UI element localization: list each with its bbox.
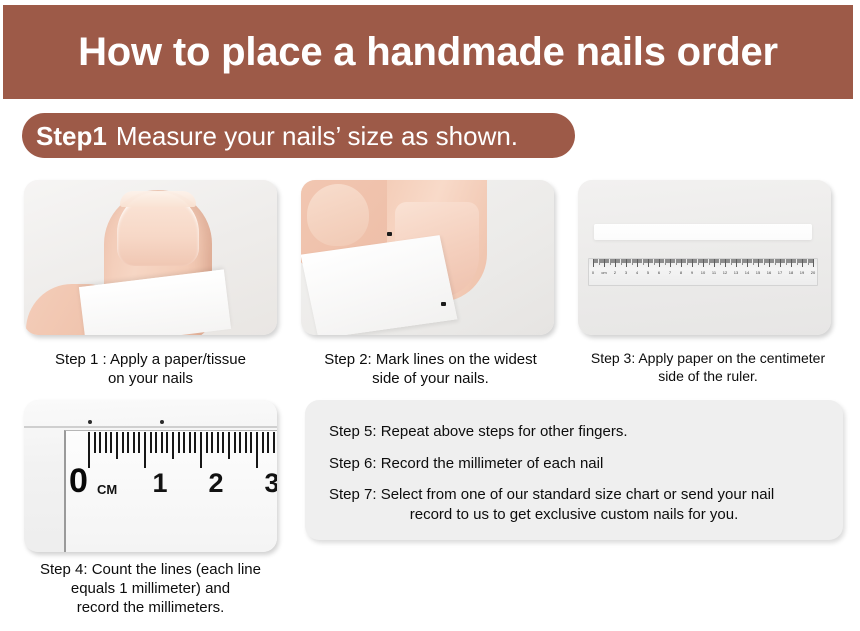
caption-step-2-line-1: Step 2: Mark lines on the widest <box>292 350 569 369</box>
steps-5-7-panel: Step 5: Repeat above steps for other fin… <box>305 400 843 540</box>
caption-step-2: Step 2: Mark lines on the widest side of… <box>292 350 569 388</box>
pen-mark-lower <box>441 302 446 306</box>
ruler-closeup-photo: 0 CM 1 2 3 <box>24 400 277 552</box>
caption-step-2-line-2: side of your nails. <box>292 369 569 388</box>
caption-step-1-line-1: Step 1 : Apply a paper/tissue <box>12 350 289 369</box>
note-step-7-line-1: Step 7: Select from one of our standard … <box>329 485 819 505</box>
caption-step-4-line-1: Step 4: Count the lines (each line <box>12 560 289 579</box>
note-step-5: Step 5: Repeat above steps for other fin… <box>329 422 819 442</box>
caption-step-3-line-2: side of the ruler. <box>568 368 848 386</box>
step1-instruction: Measure your nails’ size as shown. <box>116 123 518 149</box>
ruler-unit-label: CM <box>97 483 117 496</box>
finger-pinching-marked-paper-photo <box>301 180 554 335</box>
paper-strip-shape <box>594 224 812 240</box>
ruler-tick-marks <box>593 259 813 270</box>
step1-label: Step1 <box>36 123 107 149</box>
photo-card-apply-paper <box>24 180 277 335</box>
finger-with-paper-strip-photo <box>24 180 277 335</box>
nail-tip-shape <box>120 191 196 207</box>
caption-step-1: Step 1 : Apply a paper/tissue on your na… <box>12 350 289 388</box>
note-step-7-line-2: record to us to get exclusive custom nai… <box>410 506 738 523</box>
ruler-label-3: 3 <box>264 468 277 499</box>
page-title: How to place a handmade nails order <box>78 32 778 72</box>
photo-card-apply-to-ruler: 0cm234567891011121314151617181920 <box>578 180 831 335</box>
photo-card-mark-lines <box>301 180 554 335</box>
photo-card-count-lines: 0 CM 1 2 3 <box>24 400 277 552</box>
caption-step-3-line-1: Step 3: Apply paper on the centimeter <box>568 350 848 368</box>
ruler-label-2: 2 <box>208 468 223 499</box>
header-bar: How to place a handmade nails order <box>3 5 853 99</box>
ruler-label-1: 1 <box>152 468 167 499</box>
caption-step-4-line-2: equals 1 millimeter) and <box>12 579 289 598</box>
note-step-7: Step 7: Select from one of our standard … <box>329 485 819 524</box>
caption-step-1-line-2: on your nails <box>12 369 289 388</box>
pen-mark-upper <box>387 232 392 236</box>
ruler-top-edge <box>24 426 277 428</box>
caption-step-4-line-3: record the millimeters. <box>12 598 289 617</box>
ruler-zero-label: 0 <box>69 464 88 498</box>
thumbnail-shape <box>307 184 369 246</box>
ruler-number-labels: 0cm234567891011121314151617181920 <box>593 270 813 282</box>
pen-mark-dot-right <box>160 420 164 424</box>
caption-step-3: Step 3: Apply paper on the centimeter si… <box>568 350 848 386</box>
step1-banner: Step1 Measure your nails’ size as shown. <box>22 113 575 158</box>
long-ruler-shape: 0cm234567891011121314151617181920 <box>588 258 818 286</box>
note-step-6: Step 6: Record the millimeter of each na… <box>329 454 819 474</box>
paper-strip-on-ruler-photo: 0cm234567891011121314151617181920 <box>578 180 831 335</box>
millimeter-tick-marks <box>88 432 274 468</box>
caption-step-4: Step 4: Count the lines (each line equal… <box>12 560 289 618</box>
pen-mark-dot-left <box>88 420 92 424</box>
